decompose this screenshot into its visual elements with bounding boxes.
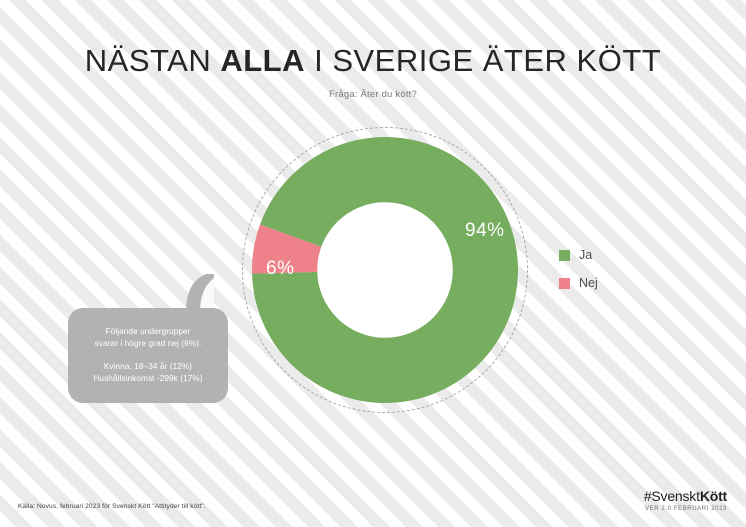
- page-title-post: I SVERIGE ÄTER KÖTT: [305, 43, 661, 78]
- legend-label-ja: Ja: [579, 248, 592, 262]
- callout-items: Kvinna, 18–34 år (12%) Hushållsinkomst -…: [93, 361, 202, 385]
- page-title-emphasis: ALLA: [220, 43, 305, 78]
- callout-box: Följande undergrupper svarar i högre gra…: [68, 308, 228, 403]
- page-title: NÄSTAN ALLA I SVERIGE ÄTER KÖTT: [0, 44, 746, 78]
- callout-item-2: Hushållsinkomst -299k (17%): [93, 373, 202, 385]
- brand-hashtag-bold: Kött: [700, 488, 727, 504]
- brand-block: #SvensktKött VER 2.0 FEBRUARI 2023: [644, 489, 727, 512]
- callout-heading: Följande undergrupper svarar i högre gra…: [95, 326, 202, 350]
- brand-hashtag: #SvensktKött: [644, 489, 727, 503]
- page-title-pre: NÄSTAN: [85, 43, 221, 78]
- title-block: NÄSTAN ALLA I SVERIGE ÄTER KÖTT Fråga: Ä…: [0, 44, 746, 100]
- legend-item-ja[interactable]: Ja: [559, 248, 598, 262]
- legend-label-nej: Nej: [579, 276, 598, 290]
- chart-legend: Ja Nej: [559, 248, 598, 304]
- callout-heading-line2: svarar i högre grad nej (6%):: [95, 338, 202, 350]
- donut-hole: [317, 202, 453, 338]
- callout-item-1: Kvinna, 18–34 år (12%): [93, 361, 202, 373]
- legend-swatch-nej: [559, 278, 570, 289]
- infographic-canvas: NÄSTAN ALLA I SVERIGE ÄTER KÖTT Fråga: Ä…: [0, 0, 746, 527]
- source-note: Källa: Novus, februari 2023 för Svenskt …: [18, 503, 206, 510]
- page-subtitle: Fråga: Äter du kött?: [0, 89, 746, 100]
- legend-item-nej[interactable]: Nej: [559, 276, 598, 290]
- brand-hashtag-light: #Svenskt: [644, 488, 700, 504]
- callout-bubble: Följande undergrupper svarar i högre gra…: [68, 308, 228, 403]
- callout-heading-line1: Följande undergrupper: [95, 326, 202, 338]
- legend-swatch-ja: [559, 250, 570, 261]
- donut-svg: [252, 137, 518, 403]
- brand-version: VER 2.0 FEBRUARI 2023: [644, 506, 727, 512]
- donut-chart: 94% 6%: [242, 127, 528, 413]
